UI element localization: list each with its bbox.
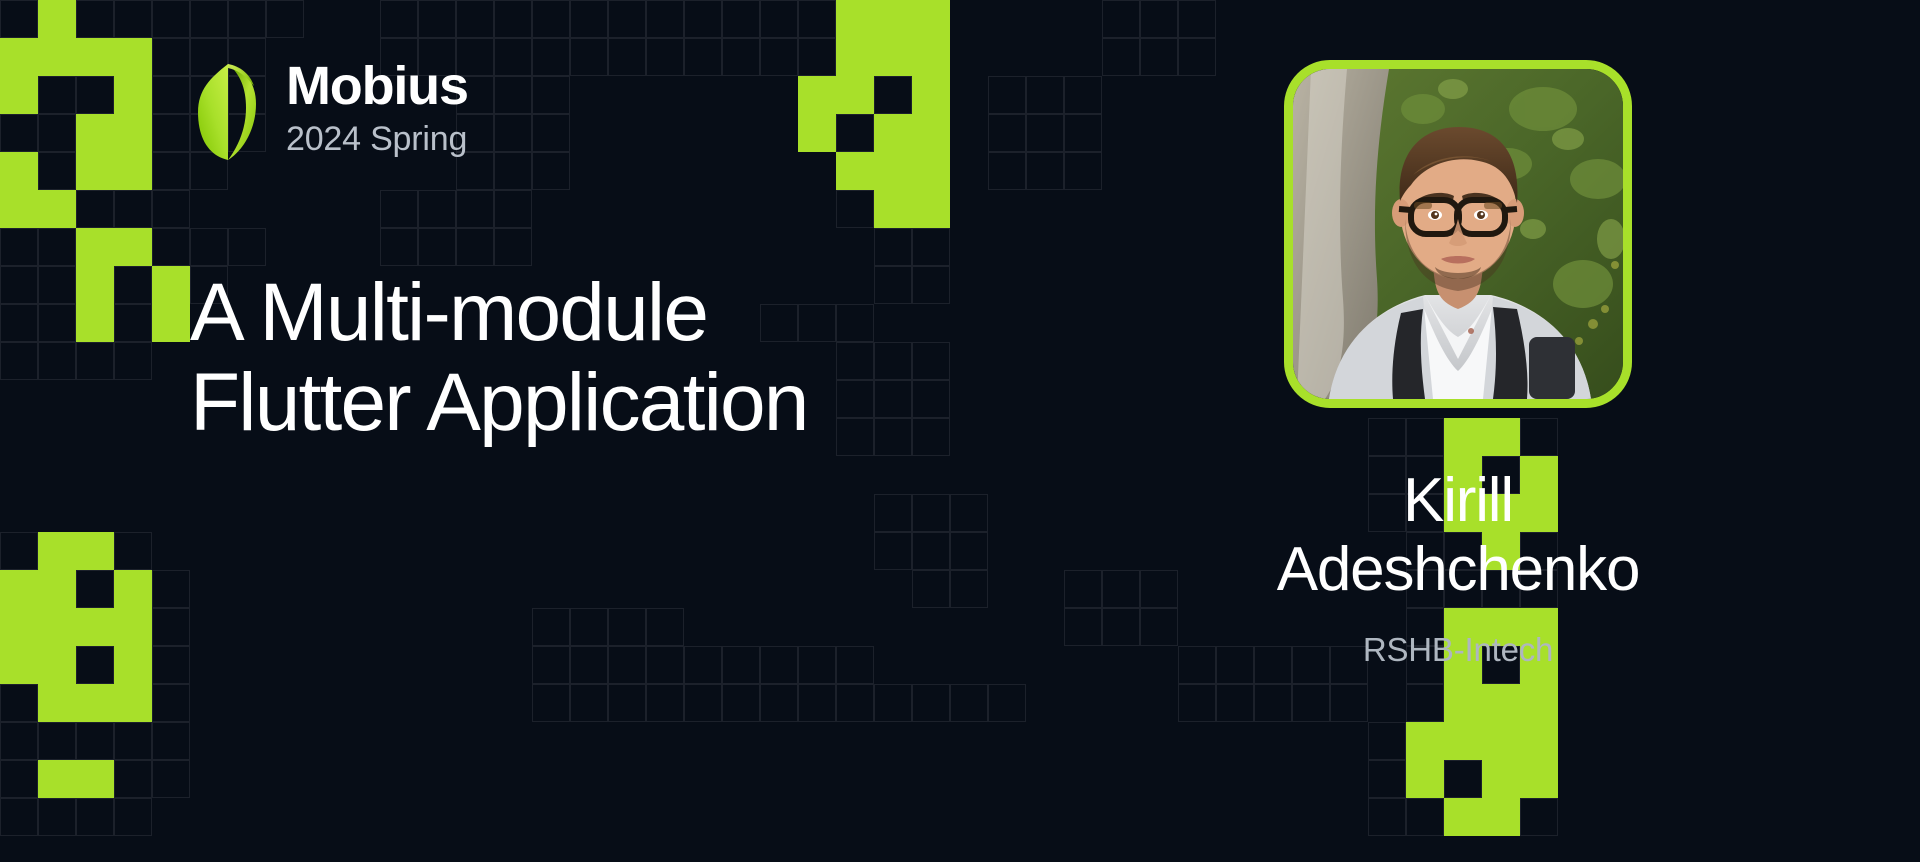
pixel-decor-cell <box>836 38 874 76</box>
pixel-decor-cell <box>152 304 190 342</box>
pixel-decor-cell <box>38 608 76 646</box>
pixel-decor-cell <box>38 684 76 722</box>
pixel-decor-cell <box>1444 798 1482 836</box>
talk-title-line-2: Flutter Application <box>190 358 808 448</box>
pixel-decor-cell <box>152 266 190 304</box>
pixel-decor-cell <box>114 228 152 266</box>
pixel-decor-cell <box>912 152 950 190</box>
pixel-decor-cell <box>38 760 76 798</box>
pixel-decor-cell <box>836 152 874 190</box>
pixel-decor-cell <box>798 114 836 152</box>
pixel-decor-cell <box>874 152 912 190</box>
talk-title: A Multi-module Flutter Application <box>190 268 808 448</box>
pixel-decor-cell <box>912 190 950 228</box>
pixel-decor-cell <box>0 76 38 114</box>
pixel-decor-cell <box>114 76 152 114</box>
pixel-decor-cell <box>38 38 76 76</box>
pixel-decor-cell <box>76 304 114 342</box>
pixel-decor-cell <box>1520 722 1558 760</box>
pixel-decor-cell <box>38 190 76 228</box>
speaker-card: Kirill Adeshchenko RSHB-Intech <box>1258 60 1658 669</box>
pixel-decor-cell <box>76 760 114 798</box>
pixel-decor-cell <box>114 684 152 722</box>
pixel-decor-cell <box>76 532 114 570</box>
pixel-decor-cell <box>114 38 152 76</box>
pixel-decor-cell <box>38 646 76 684</box>
pixel-decor-cell <box>836 76 874 114</box>
pixel-decor-cell <box>114 646 152 684</box>
pixel-decor-cell <box>38 0 76 38</box>
speaker-company: RSHB-Intech <box>1363 631 1553 669</box>
brand-wordmark: Mobius <box>286 59 468 114</box>
pixel-decor-cell <box>1444 684 1482 722</box>
pixel-decor-cell <box>798 76 836 114</box>
pixel-decor-cell <box>76 684 114 722</box>
pixel-decor-cell <box>1406 760 1444 798</box>
brand-logo-text: Mobius 2024 Spring <box>286 59 468 161</box>
pixel-decor-cell <box>1520 760 1558 798</box>
brand-logo: Mobius 2024 Spring <box>190 56 468 164</box>
speaker-portrait-photo <box>1293 69 1623 399</box>
speaker-first-name: Kirill <box>1277 466 1640 535</box>
pixel-decor-cell <box>76 38 114 76</box>
pixel-decor-cell <box>1482 722 1520 760</box>
pixel-decor-cell <box>114 570 152 608</box>
pixel-decor-cell <box>76 114 114 152</box>
speaker-name: Kirill Adeshchenko <box>1277 466 1640 605</box>
pixel-decor-cell <box>76 152 114 190</box>
pixel-decor-cell <box>874 0 912 38</box>
brand-edition: 2024 Spring <box>286 118 468 161</box>
pixel-decor-cell <box>38 570 76 608</box>
speaker-last-name: Adeshchenko <box>1277 535 1640 604</box>
pixel-decor-cell <box>1444 722 1482 760</box>
pixel-decor-cell <box>912 114 950 152</box>
pixel-decor-cell <box>874 38 912 76</box>
pixel-decor-cell <box>114 608 152 646</box>
pixel-decor-cell <box>0 608 38 646</box>
pixel-decor-cell <box>874 114 912 152</box>
pixel-decor-cell <box>1406 722 1444 760</box>
pixel-decor-cell <box>912 76 950 114</box>
pixel-decor-cell <box>76 266 114 304</box>
talk-title-line-1: A Multi-module <box>190 268 808 358</box>
pixel-decor-cell <box>0 152 38 190</box>
pixel-decor-cell <box>1520 684 1558 722</box>
presentation-slide: Mobius 2024 Spring A Multi-module Flutte… <box>0 0 1920 862</box>
pixel-decor-cell <box>912 38 950 76</box>
pixel-decor-cell <box>76 228 114 266</box>
pixel-decor-cell <box>0 570 38 608</box>
pixel-decor-cell <box>0 38 38 76</box>
pixel-decor-cell <box>1482 798 1520 836</box>
pixel-decor-cell <box>0 646 38 684</box>
pixel-decor-cell <box>114 152 152 190</box>
pixel-decor-cell <box>1482 760 1520 798</box>
pixel-decor-cell <box>912 0 950 38</box>
pixel-decor-cell <box>874 190 912 228</box>
pixel-decor-cell <box>76 608 114 646</box>
mobius-loop-logo-icon <box>190 56 264 164</box>
pixel-decor-cell <box>0 190 38 228</box>
pixel-decor-cell <box>114 114 152 152</box>
pixel-decor-cell <box>836 0 874 38</box>
speaker-photo-frame <box>1284 60 1632 408</box>
pixel-decor-cell <box>38 532 76 570</box>
pixel-decor-cell <box>1482 684 1520 722</box>
